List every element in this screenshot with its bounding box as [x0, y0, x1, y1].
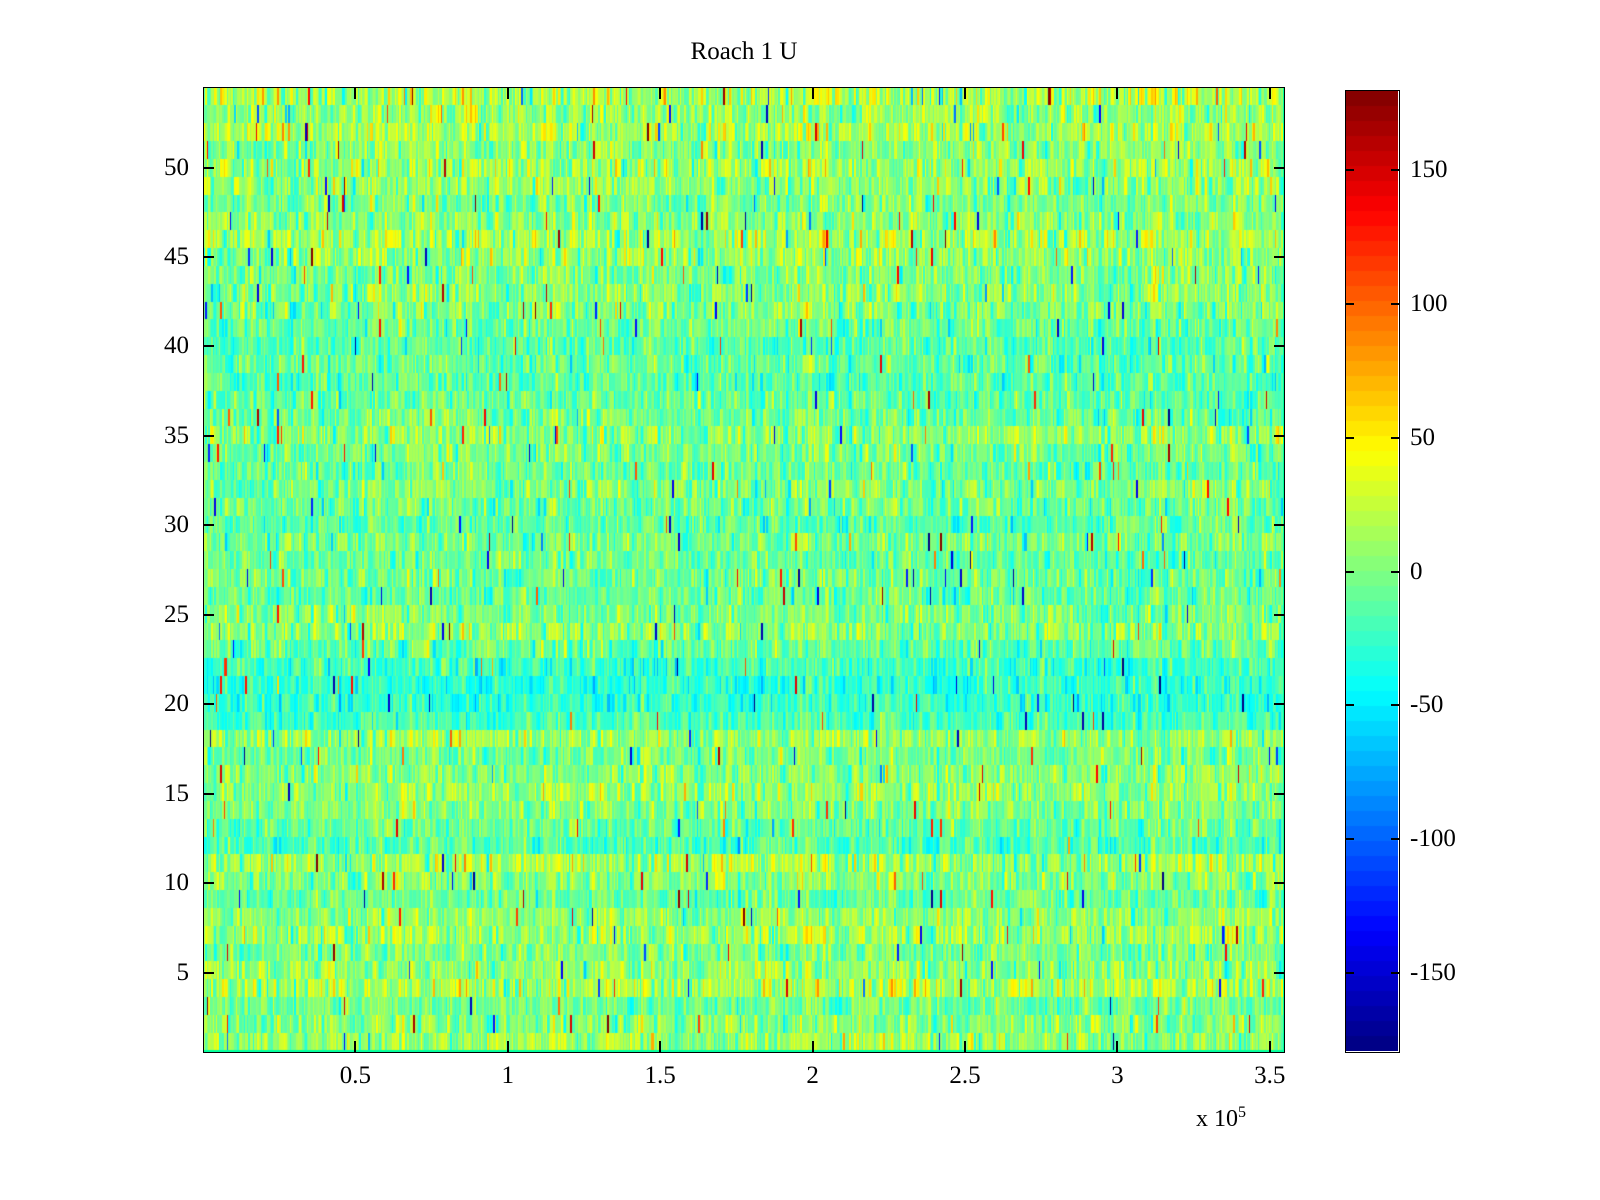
y-tick-mark-right	[1274, 703, 1285, 705]
y-tick-mark	[203, 345, 214, 347]
y-tick-mark	[203, 524, 214, 526]
y-tick-label: 15	[129, 781, 189, 806]
x-axis-exponent-label: x 105	[1196, 1104, 1246, 1133]
y-tick-mark	[203, 882, 214, 884]
x-tick-label: 2.5	[905, 1063, 1025, 1088]
y-tick-mark-right	[1274, 167, 1285, 169]
x-tick-mark	[659, 1041, 661, 1053]
y-tick-mark	[203, 793, 214, 795]
colorbar-tick-label: 50	[1410, 425, 1435, 450]
colorbar-tick-mark-right	[1391, 838, 1400, 840]
y-tick-mark-right	[1274, 614, 1285, 616]
y-tick-label: 5	[129, 960, 189, 985]
colorbar-tick-mark-right	[1391, 571, 1400, 573]
y-tick-label: 10	[129, 870, 189, 895]
colorbar-tick-mark	[1345, 571, 1354, 573]
y-tick-mark-right	[1274, 793, 1285, 795]
colorbar-tick-label: 150	[1410, 157, 1448, 182]
x-tick-mark-top	[507, 87, 509, 99]
x-tick-label: 3.5	[1210, 1063, 1330, 1088]
x-tick-mark-top	[1269, 87, 1271, 99]
x-tick-label: 1	[448, 1063, 568, 1088]
colorbar-tick-label: 0	[1410, 559, 1423, 584]
colorbar-tick-mark	[1345, 169, 1354, 171]
x-tick-label: 1.5	[600, 1063, 720, 1088]
x-tick-label: 0.5	[295, 1063, 415, 1088]
colorbar-tick-mark	[1345, 303, 1354, 305]
colorbar-tick-mark-right	[1391, 169, 1400, 171]
y-tick-mark-right	[1274, 345, 1285, 347]
colorbar-tick-label: 100	[1410, 291, 1448, 316]
y-tick-label: 50	[129, 155, 189, 180]
colorbar-tick-mark-right	[1391, 437, 1400, 439]
page-title: Roach 1 U	[203, 38, 1285, 66]
x-exponent-base: x 10	[1196, 1106, 1238, 1132]
colorbar-tick-label: -50	[1410, 692, 1443, 717]
heatmap-axes[interactable]	[203, 87, 1285, 1053]
colorbar-tick-mark	[1345, 704, 1354, 706]
y-tick-mark	[203, 435, 214, 437]
y-tick-mark-right	[1274, 972, 1285, 974]
x-tick-mark	[812, 1041, 814, 1053]
colorbar-tick-mark	[1345, 838, 1354, 840]
x-tick-mark-top	[354, 87, 356, 99]
y-tick-mark-right	[1274, 524, 1285, 526]
colorbar-tick-label: -150	[1410, 960, 1456, 985]
y-tick-label: 45	[129, 244, 189, 269]
y-tick-mark-right	[1274, 435, 1285, 437]
y-tick-mark	[203, 256, 214, 258]
matlab-figure-window: Roach 1 U 5101520253035404550 0.511.522.…	[0, 0, 1600, 1200]
y-tick-label: 40	[129, 333, 189, 358]
x-tick-label: 3	[1057, 1063, 1177, 1088]
x-tick-mark-top	[1116, 87, 1118, 99]
x-tick-mark	[1116, 1041, 1118, 1053]
y-tick-label: 30	[129, 512, 189, 537]
x-tick-mark	[964, 1041, 966, 1053]
y-tick-mark	[203, 972, 214, 974]
colorbar-tick-mark	[1345, 437, 1354, 439]
colorbar-tick-mark-right	[1391, 303, 1400, 305]
y-tick-mark	[203, 703, 214, 705]
x-tick-mark-top	[964, 87, 966, 99]
colorbar-tick-mark	[1345, 972, 1354, 974]
y-tick-mark-right	[1274, 256, 1285, 258]
x-tick-mark	[507, 1041, 509, 1053]
x-tick-label: 2	[753, 1063, 873, 1088]
x-tick-mark	[354, 1041, 356, 1053]
colorbar-tick-mark-right	[1391, 972, 1400, 974]
heatmap-image	[204, 88, 1283, 1051]
y-tick-mark	[203, 167, 214, 169]
colorbar-tick-label: -100	[1410, 826, 1456, 851]
y-tick-label: 35	[129, 423, 189, 448]
y-tick-mark-right	[1274, 882, 1285, 884]
y-tick-mark	[203, 614, 214, 616]
y-tick-label: 20	[129, 691, 189, 716]
x-tick-mark	[1269, 1041, 1271, 1053]
x-exponent-power: 5	[1238, 1104, 1246, 1121]
x-tick-mark-top	[812, 87, 814, 99]
colorbar-tick-mark-right	[1391, 704, 1400, 706]
y-tick-label: 25	[129, 602, 189, 627]
x-tick-mark-top	[659, 87, 661, 99]
